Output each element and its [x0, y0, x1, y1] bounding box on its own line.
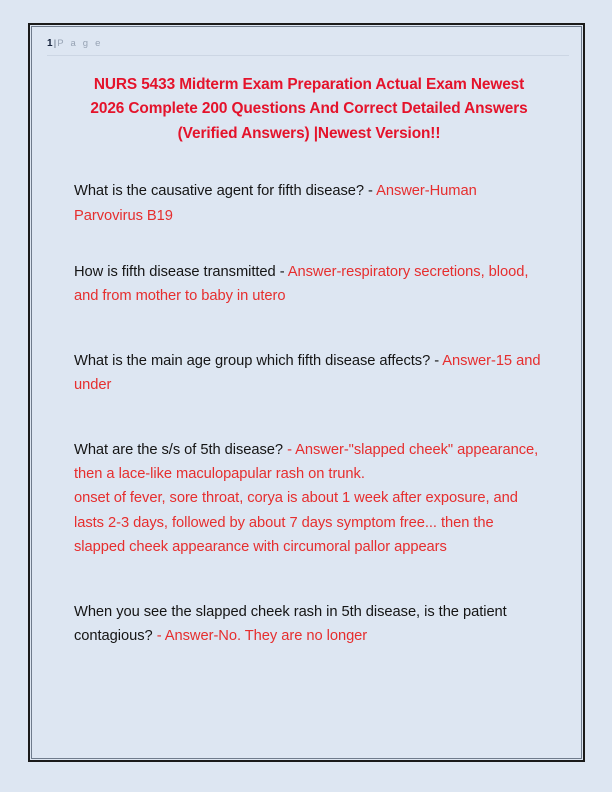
- spacer: [74, 228, 544, 260]
- qa-question-1: What is the causative agent for fifth di…: [74, 183, 376, 199]
- qa-dash-5: -: [153, 628, 165, 644]
- qa-answer-5: Answer-No. They are no longer: [165, 628, 367, 644]
- header-divider: [47, 55, 569, 56]
- running-header: 1|P a g e: [32, 38, 581, 54]
- qa-question-3: What is the main age group which fifth d…: [74, 353, 442, 369]
- continuation-paragraph: onset of fever, sore throat, corya is ab…: [74, 486, 544, 559]
- qa-dash-4: -: [283, 442, 295, 458]
- page-title: NURS 5433 Midterm Exam Preparation Actua…: [74, 73, 544, 146]
- continuation-text: onset of fever, sore throat, corya is ab…: [74, 490, 518, 555]
- qa-question-4: What are the s/s of 5th disease?: [74, 442, 283, 458]
- header-separator: |: [54, 38, 57, 49]
- header-page-label: P a g e: [57, 38, 102, 49]
- qa-item-5: When you see the slapped cheek rash in 5…: [74, 600, 544, 649]
- qa-item-2: How is fifth disease transmitted - Answe…: [74, 260, 544, 309]
- spacer: [74, 560, 544, 600]
- header-page-number: 1: [47, 38, 53, 49]
- document-page: 1|P a g e NURS 5433 Midterm Exam Prepara…: [28, 23, 585, 762]
- qa-item-1: What is the causative agent for fifth di…: [74, 179, 544, 228]
- spacer: [74, 309, 544, 349]
- qa-question-2: How is fifth disease transmitted -: [74, 264, 288, 280]
- qa-item-4: What are the s/s of 5th disease? - Answe…: [74, 438, 544, 487]
- page-inner-frame: 1|P a g e NURS 5433 Midterm Exam Prepara…: [31, 26, 582, 759]
- spacer: [74, 398, 544, 438]
- document-body: NURS 5433 Midterm Exam Preparation Actua…: [74, 73, 544, 649]
- qa-item-3: What is the main age group which fifth d…: [74, 349, 544, 398]
- spacer: [74, 146, 544, 179]
